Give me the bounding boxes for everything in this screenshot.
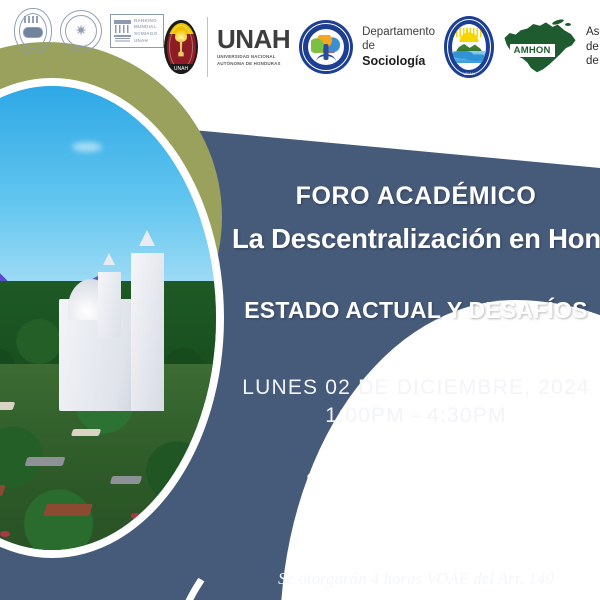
photo-roof [71, 429, 101, 436]
unah-wordmark: UNAH UNIVERSIDAD NACIONAL AUTÓNOMA DE HO… [217, 26, 290, 67]
desarrollo-local-seal-caption: UNAH [444, 71, 494, 76]
event-title: La Descentralización en Honduras [232, 223, 600, 255]
unah-subtitle-line-2: AUTÓNOMA DE HONDURAS [217, 61, 290, 68]
sociologia-label: Departamento de Sociología [362, 25, 435, 69]
unah-accreditation-seal-2-icon: ✷ [60, 10, 102, 52]
photo-church-tower-small [98, 272, 121, 337]
scimago-line-1: RANKING [134, 18, 157, 25]
event-venue: SALA DE PROYECCIONES DEL CRA, UNAH [232, 469, 600, 517]
event-subtitle: ESTADO ACTUAL Y DESAFÍOS [232, 297, 600, 324]
event-datetime: LUNES 02 DE DICIEMBRE, 2024 1:00PM - 4:3… [232, 374, 600, 429]
amhon-line-1: Asociación [586, 25, 600, 40]
photo-roof [43, 504, 93, 516]
unah-torch-seal-icon: UNAH [164, 20, 198, 74]
photo-roof [24, 457, 65, 466]
photo-sky [0, 86, 216, 299]
event-time: 1:00PM - 4:30PM [232, 402, 600, 430]
desarrollo-local-seal-icon: UNAH [444, 16, 494, 78]
scimago-line-4: UNAH [134, 38, 157, 45]
photo-church-spire [139, 230, 155, 246]
event-date: LUNES 02 DE DICIEMBRE, 2024 [232, 374, 600, 402]
photo-flowers [131, 513, 140, 519]
temple-icon [114, 19, 131, 43]
sociologia-line-1: Departamento de [362, 25, 435, 54]
amhon-label: Asociación de Municipios de Honduras [586, 25, 600, 69]
poster-canvas: ✷ RANKING MUNDIAL SCIMAGO UNAH [0, 0, 600, 600]
event-eyebrow: FORO ACADÉMICO [232, 182, 600, 211]
event-credit-note: Se otorgarán 4 horas VOAE del Art. 140 [232, 569, 600, 589]
event-venue-line-2: DEL CRA, UNAH [232, 493, 600, 517]
unah-subtitle-line-1: UNIVERSIDAD NACIONAL [217, 54, 290, 61]
unah-wordmark-text: UNAH [217, 26, 290, 52]
unah-seal-caption: UNAH [174, 66, 188, 72]
event-copy-block: FORO ACADÉMICO La Descentralización en H… [232, 182, 600, 589]
photo-church-spire-small [103, 253, 115, 265]
institution-logo-strip: UNAH UNAH UNIVERSIDAD NACIONAL AUTÓNOMA … [164, 16, 600, 78]
photo-church-tower [131, 253, 164, 411]
photo-roof [0, 402, 15, 410]
scimago-line-3: SCIMAGO [134, 31, 157, 38]
sociologia-line-2: Sociología [362, 54, 435, 70]
sociologia-tree-seal-icon [299, 20, 353, 74]
scimago-ranking-box: RANKING MUNDIAL SCIMAGO UNAH [110, 14, 164, 48]
photo-roof [110, 476, 143, 484]
amhon-line-2: de Municipios [586, 40, 600, 55]
event-venue-line-1: SALA DE PROYECCIONES [232, 469, 600, 493]
scimago-line-2: MUNDIAL [134, 24, 157, 31]
amhon-mark-text: AMHON [510, 44, 555, 57]
amhon-line-3: de Honduras [586, 54, 600, 69]
honduran-town-photo [0, 86, 216, 550]
accreditation-logo-strip: ✷ RANKING MUNDIAL SCIMAGO UNAH [14, 8, 164, 54]
amhon-honduras-map-icon: AMHON [503, 19, 577, 75]
unah-accreditation-seal-1-icon [14, 8, 52, 54]
logo-divider [207, 17, 208, 77]
photo-cloud [72, 142, 102, 152]
